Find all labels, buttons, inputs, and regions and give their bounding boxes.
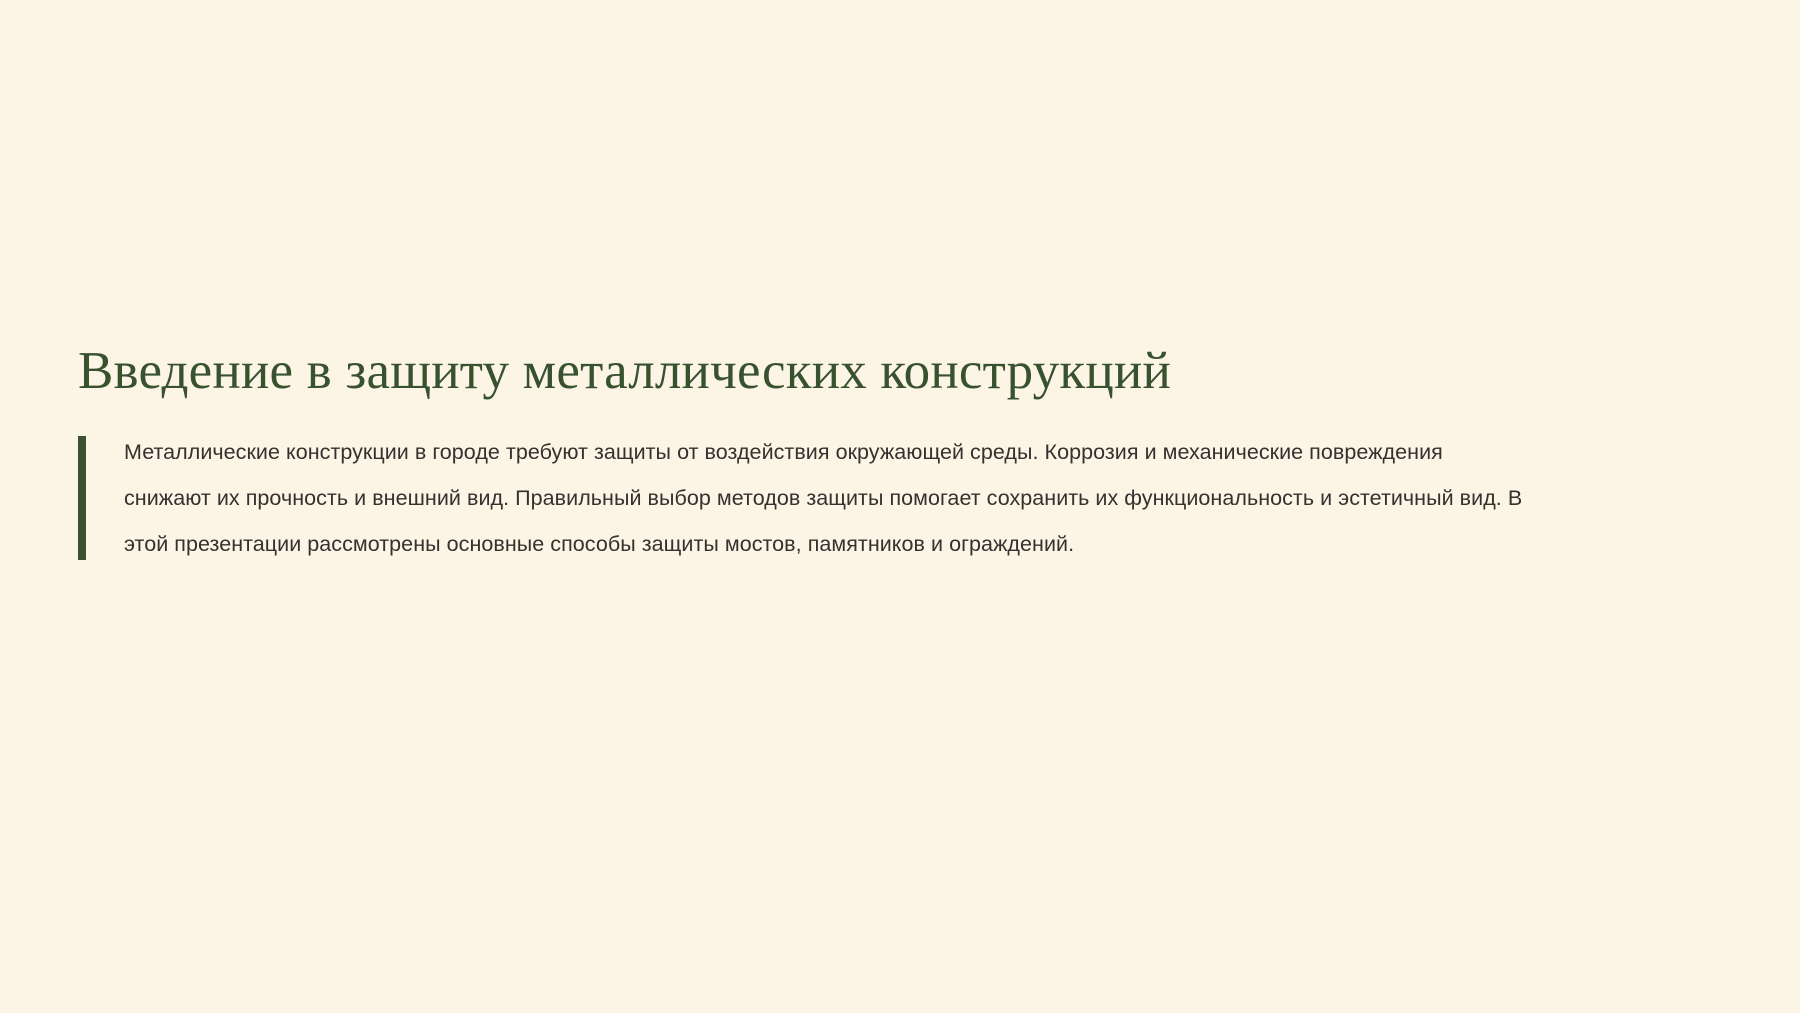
slide-content: Введение в защиту металлических конструк… (78, 340, 1718, 567)
accent-bar (78, 436, 86, 560)
slide-title: Введение в защиту металлических конструк… (78, 340, 1718, 403)
presentation-slide: Введение в защиту металлических конструк… (0, 0, 1800, 1013)
body-block: Металлические конструкции в городе требу… (78, 429, 1684, 567)
slide-body-paragraph: Металлические конструкции в городе требу… (124, 429, 1524, 567)
